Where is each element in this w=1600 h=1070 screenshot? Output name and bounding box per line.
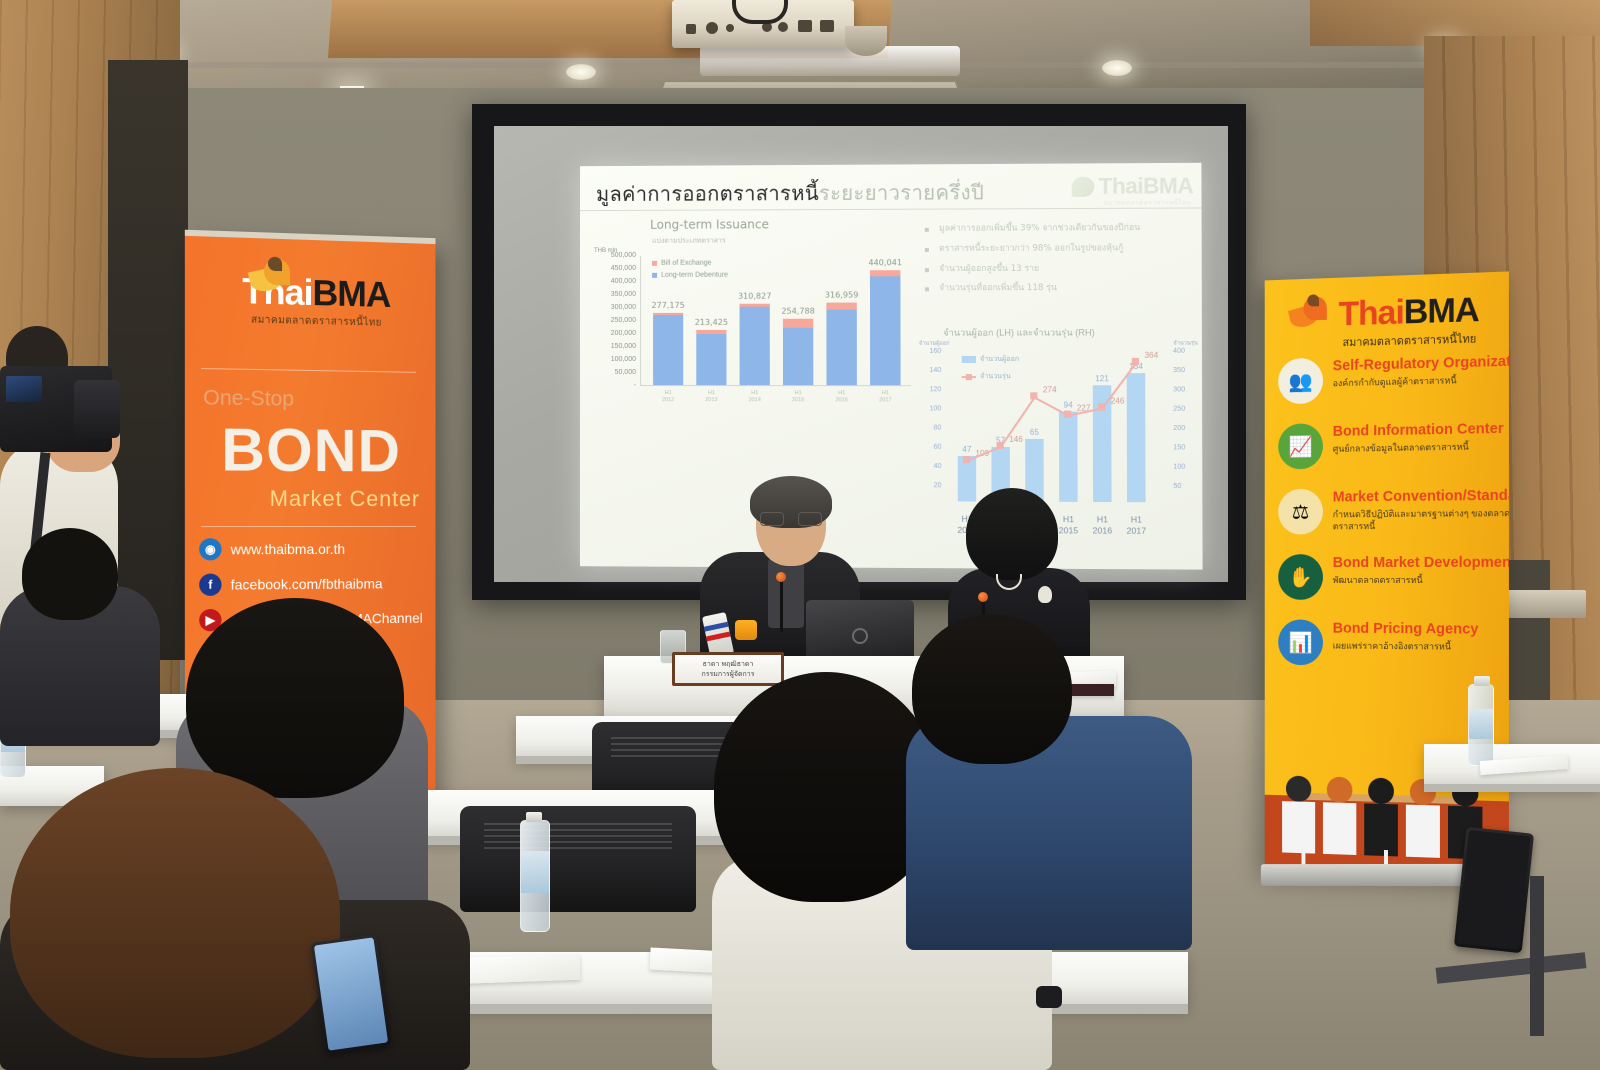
- thaibma-leaf-icon: [244, 254, 300, 296]
- banner-feature-item: 👥Self-Regulatory Organizationองค์กรกำกับ…: [1278, 353, 1509, 405]
- banner-contact-text: www.thaibma.or.th: [231, 541, 345, 557]
- chart2-left-tick: 20: [917, 482, 941, 489]
- banner-feature-item: ✋Bond Market Developmentพัฒนาตลาดตราสารห…: [1278, 554, 1509, 601]
- slide-logo-text: ThaiBMA: [1099, 173, 1194, 200]
- chart1-y-tick: 400,000: [594, 278, 636, 285]
- chart1-x-tick: H12016: [818, 391, 865, 404]
- banner-headline: BOND: [185, 414, 436, 485]
- chart1-bar-label: 254,788: [768, 306, 829, 315]
- chart1-y-tick: 200,000: [594, 330, 636, 337]
- banner-feature-desc: กำหนดวิธีปฏิบัติและมาตรฐานต่างๆ ของตลาดต…: [1333, 507, 1509, 533]
- issuer-count-chart: จำนวนผู้ออก (LH) และจำนวนรุ่น (RH) จำนวน…: [913, 325, 1201, 554]
- chart1-x-tick: H12013: [688, 390, 734, 403]
- laptop-brand-logo: [852, 628, 868, 644]
- downlight: [566, 64, 596, 80]
- slide-logo-subtext: สมาคมตลาดตราสารหนี้ไทย: [1104, 197, 1192, 208]
- chart1-bar-label: 277,175: [638, 301, 698, 310]
- hand-plant-icon: ✋: [1278, 554, 1323, 600]
- screen-surface: มูลค่าการออกตราสารหนี้ระยะยาวรายครึ่งปี …: [494, 126, 1228, 582]
- camera-screen: [6, 376, 42, 402]
- projection-screen: มูลค่าการออกตราสารหนี้ระยะยาวรายครึ่งปี …: [472, 104, 1246, 600]
- banner-contact-row: ffacebook.com/fbthaibma: [199, 572, 428, 596]
- speaker-nameplate: ธาดา พฤฒิธาดา กรรมการผู้จัดการ: [672, 652, 784, 686]
- wall-shelf-strip: [1500, 590, 1586, 618]
- banner-feature-item: 📈Bond Information Centerศูนย์กลางข้อมูลใ…: [1278, 420, 1509, 470]
- audience-member-white-top-head: [714, 672, 938, 902]
- projector-mount: [845, 26, 887, 56]
- scales-icon: ⚖: [1278, 489, 1323, 535]
- chart1-y-tick: -: [594, 382, 636, 389]
- banner-feature-heading: Bond Market Development: [1333, 555, 1509, 571]
- chart2-plot-area: 47109H1201257146H1201365274H1201494227H1…: [945, 348, 1163, 503]
- gooseneck-microphone: [780, 578, 783, 632]
- camera-device-right[interactable]: [1454, 827, 1534, 953]
- chart1-x-tick: H12015: [775, 391, 822, 404]
- ceiling: [0, 0, 1600, 100]
- chair[interactable]: [460, 806, 696, 912]
- chart1-x-tick: H12017: [862, 391, 909, 404]
- chart2-bar: [1127, 373, 1146, 502]
- chart2-left-tick: 140: [917, 367, 941, 374]
- ceiling-projector: [672, 0, 854, 48]
- banner-feature-desc: พัฒนาตลาดตราสารหนี้: [1333, 574, 1509, 586]
- slide-title: มูลค่าการออกตราสารหนี้ระยะยาวรายครึ่งปี: [596, 176, 984, 210]
- camera-lens-icon: [74, 380, 120, 438]
- projector-light-reflection: [700, 46, 960, 76]
- banner-contact-text: facebook.com/fbthaibma: [231, 576, 383, 593]
- chart2-right-tick: 150: [1173, 444, 1198, 451]
- chart2-left-tick: 80: [917, 425, 941, 432]
- male-speaker-shirt: [768, 558, 804, 628]
- chart2-bar-label: 65: [1014, 428, 1055, 437]
- chart1-bar-label: 440,041: [855, 258, 916, 267]
- banner-contact-row: ◉www.thaibma.or.th: [199, 538, 428, 561]
- banner-feature-desc: เผยแพร่ราคาอ้างอิงตราสารหนี้: [1333, 640, 1479, 653]
- water-bottle: [520, 820, 550, 932]
- slide-title-secondary: ระยะยาวรายครึ่งปี: [819, 180, 984, 205]
- chart1-y-tick: 100,000: [594, 356, 636, 363]
- table-edge: [1424, 784, 1600, 792]
- slide-bullet-list: มูลค่าการออกเพิ่มขึ้น 39% จากช่วงเดียวกั…: [923, 222, 1194, 303]
- banner-feature-heading: Market Convention/Standard: [1333, 487, 1509, 505]
- chart1-y-tick: 500,000: [594, 252, 636, 259]
- chart1-y-tick: 250,000: [594, 317, 636, 324]
- chart2-bar: [958, 456, 976, 501]
- downlight: [1102, 60, 1132, 76]
- chart2-right-tick: 250: [1173, 406, 1198, 413]
- banner-divider: [201, 368, 416, 373]
- chart2-right-tick: 350: [1173, 367, 1198, 374]
- nameplate-name: ธาดา พฤฒิธาดา: [703, 659, 754, 670]
- chart2-right-axis: 40035030025020015010050: [1173, 348, 1200, 503]
- presentation-slide: มูลค่าการออกตราสารหนี้ระยะยาวรายครึ่งปี …: [580, 163, 1203, 570]
- slide-bullet: ตราสารหนี้ระยะยาวกว่า 98% ออกในรูปของหุ้…: [923, 242, 1194, 256]
- thaibma-leaf-icon: [1072, 177, 1095, 197]
- microphone-head: [776, 572, 786, 582]
- chart2-left-tick: 100: [917, 405, 941, 412]
- handheld-microphone-foam: [735, 620, 757, 640]
- eyeglasses: [760, 512, 822, 526]
- projector-cable: [732, 0, 788, 24]
- chart-board-icon: 📈: [1278, 423, 1323, 469]
- yellow-banner-logo: ThaiBMA สมาคมตลาดตราสารหนี้ไทย: [1288, 288, 1497, 329]
- banner-feature-desc: ศูนย์กลางข้อมูลในตลาดตราสารหนี้: [1333, 440, 1504, 455]
- chart1-y-axis: 500,000450,000400,000350,000300,000250,0…: [592, 256, 636, 386]
- chart2-left-tick: 60: [917, 444, 941, 451]
- female-speaker-hair: [966, 488, 1058, 580]
- yellow-logo-title: ThaiBMA: [1339, 291, 1479, 335]
- audience-member-blue-shirt-head: [912, 614, 1072, 764]
- globe-icon: ◉: [199, 538, 221, 560]
- thaibma-leaf-icon: [1288, 294, 1335, 329]
- chart1-y-tick: 450,000: [594, 265, 636, 272]
- chart2-right-tick: 50: [1173, 483, 1198, 490]
- lapel-pin: [1038, 586, 1052, 603]
- banner-feature-desc: องค์กรกำกับดูแลผู้ค้าตราสารหนี้: [1333, 372, 1509, 389]
- banner-divider: [201, 526, 416, 527]
- chart2-x-tick: H12017: [1116, 514, 1157, 537]
- chart2-left-tick: 160: [917, 348, 941, 355]
- banner-feature-heading: Bond Pricing Agency: [1333, 621, 1479, 638]
- chart2-left-tick: 120: [917, 386, 941, 393]
- chart1-y-tick: 150,000: [594, 343, 636, 350]
- slide-bullet: มูลค่าการออกเพิ่มขึ้น 39% จากช่วงเดียวกั…: [923, 222, 1194, 236]
- left-dark-column: [108, 60, 188, 660]
- chart1-bar-label: 213,425: [681, 317, 741, 326]
- chart1-plot-area: 277,175H12012213,425H12013310,827H120142…: [640, 255, 911, 386]
- audience-head: [22, 528, 118, 620]
- slide-title-main: มูลค่าการออกตราสารหนี้: [596, 181, 819, 206]
- chart1-x-tick: H12012: [645, 390, 691, 403]
- yellow-banner-item-list: 👥Self-Regulatory Organizationองค์กรกำกับ…: [1278, 353, 1509, 688]
- chart2-left-unit: จำนวนผู้ออก: [919, 340, 950, 348]
- yellow-logo-subtitle: สมาคมตลาดตราสารหนี้ไทย: [1343, 329, 1477, 351]
- chart1-title: Long-term Issuance: [650, 217, 769, 231]
- chart2-left-axis: 16014012010080604020: [915, 348, 942, 502]
- banner-feature-heading: Self-Regulatory Organization: [1333, 353, 1509, 374]
- chart1-y-tick: 350,000: [594, 291, 636, 298]
- chart2-bar: [1059, 411, 1078, 502]
- chart2-right-tick: 300: [1173, 386, 1198, 393]
- report-icon: 📊: [1278, 619, 1323, 665]
- chart2-left-tick: 40: [917, 463, 941, 470]
- banner-subheadline: Market Center: [185, 485, 436, 512]
- chart2-title: จำนวนผู้ออก (LH) และจำนวนรุ่น (RH): [943, 325, 1095, 339]
- banner-tagline: One-Stop: [203, 386, 294, 411]
- slide-thaibma-logo: ThaiBMA สมาคมตลาดตราสารหนี้ไทย: [1072, 173, 1193, 200]
- chart1-x-tick: H12014: [732, 390, 778, 403]
- chart2-right-tick: 400: [1173, 348, 1198, 355]
- chart1-subtitle: แบ่งตามประเภทตราสาร: [652, 236, 726, 247]
- water-bottle: [1468, 684, 1494, 766]
- tripod-column: [1530, 876, 1544, 1036]
- chart2-right-tick: 100: [1173, 464, 1198, 471]
- chart1-bar-label: 310,827: [724, 292, 785, 301]
- microphone-head: [978, 592, 988, 602]
- banner-feature-item: 📊Bond Pricing Agencyเผยแพร่ราคาอ้างอิงตร…: [1278, 619, 1509, 667]
- chart1-y-tick: 300,000: [594, 304, 636, 311]
- chart2-bar-label: 121: [1081, 374, 1122, 383]
- nameplate-title: กรรมการผู้จัดการ: [702, 669, 755, 680]
- facebook-icon: f: [199, 574, 221, 596]
- chart2-right-tick: 200: [1173, 425, 1198, 432]
- banner-feature-heading: Bond Information Center: [1333, 421, 1504, 440]
- chart1-y-tick: 50,000: [594, 369, 636, 376]
- wristwatch: [1036, 986, 1062, 1008]
- chart1-bar-label: 316,959: [811, 290, 872, 299]
- orange-banner-logo: ThaiBMA สมาคมตลาดตราสารหนี้ไทย: [222, 253, 411, 331]
- banner-feature-item: ⚖Market Convention/Standardกำหนดวิธีปฏิบ…: [1278, 487, 1509, 535]
- conference-room-scene: มูลค่าการออกตราสารหนี้ระยะยาวรายครึ่งปี …: [0, 0, 1600, 1070]
- long-term-issuance-chart: Long-term Issuance แบ่งตามประเภทตราสาร T…: [590, 217, 923, 399]
- chart2-right-unit: จำนวนรุ่น: [1173, 340, 1197, 348]
- slide-bullet: จำนวนรุ่นที่ออกเพิ่มขึ้น 118 รุ่น: [923, 282, 1194, 295]
- people-icon: 👥: [1278, 358, 1323, 405]
- audience-member-front-left-head: [10, 768, 340, 1058]
- audience-member-center-head: [186, 598, 404, 798]
- chart2-line-label: 274: [1029, 385, 1070, 394]
- chart2-line-label: 364: [1131, 350, 1172, 359]
- slide-bullet: จำนวนผู้ออกสูงขึ้น 13 ราย: [923, 262, 1194, 276]
